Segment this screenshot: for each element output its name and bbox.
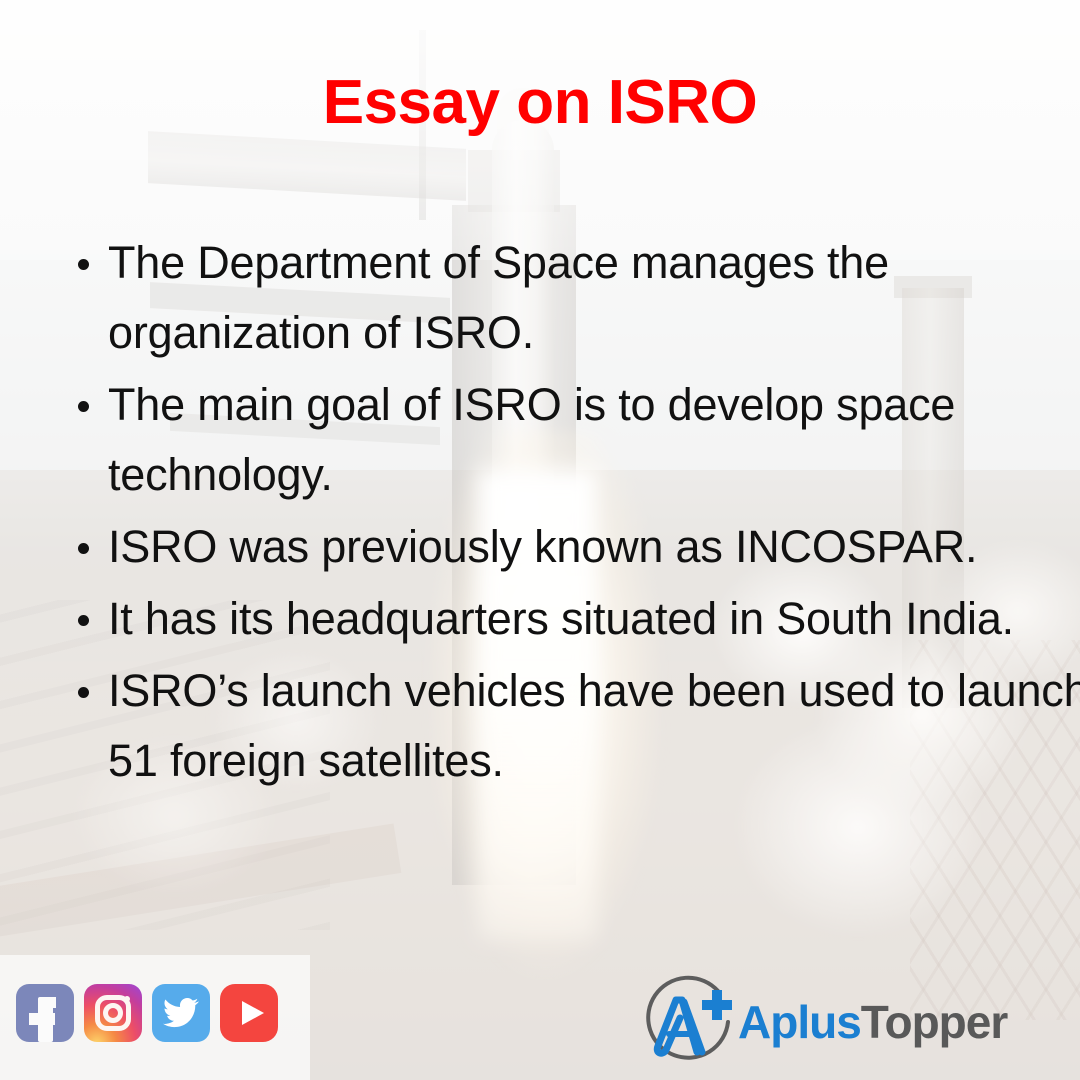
list-item: ISRO was previously known as INCOSPAR. — [108, 512, 1080, 582]
aplus-circle-icon — [640, 974, 740, 1070]
instagram-icon[interactable] — [84, 984, 142, 1042]
list-item: ISRO’s launch vehicles have been used to… — [108, 656, 1080, 796]
list-item-text: ISRO was previously known as INCOSPAR. — [108, 521, 977, 572]
facebook-icon[interactable] — [16, 984, 74, 1042]
brand-wordmark: AplusTopper — [738, 999, 1007, 1045]
facebook-glyph — [38, 997, 53, 1042]
list-item-text: The Department of Space manages the orga… — [108, 237, 889, 358]
instagram-dot-glyph — [124, 996, 130, 1002]
bullet-list: The Department of Space manages the orga… — [62, 228, 1080, 798]
brand-word-primary: Aplus — [738, 996, 861, 1048]
list-item-text: ISRO’s launch vehicles have been used to… — [108, 665, 1080, 786]
instagram-lens-glyph — [103, 1003, 123, 1023]
list-item-text: The main goal of ISRO is to develop spac… — [108, 379, 955, 500]
list-item: It has its headquarters situated in Sout… — [108, 584, 1080, 654]
page-title: Essay on ISRO — [0, 72, 1080, 134]
youtube-play-glyph — [242, 1001, 264, 1025]
poster-canvas: Essay on ISRO The Department of Space ma… — [0, 0, 1080, 1080]
list-item-text: It has its headquarters situated in Sout… — [108, 593, 1014, 644]
twitter-bird-glyph — [152, 984, 210, 1042]
twitter-icon[interactable] — [152, 984, 210, 1042]
social-links — [16, 984, 278, 1042]
brand-word-secondary: Topper — [861, 996, 1007, 1048]
brand-logo[interactable]: AplusTopper — [640, 972, 1065, 1072]
list-item: The Department of Space manages the orga… — [108, 228, 1080, 368]
youtube-icon[interactable] — [220, 984, 278, 1042]
list-item: The main goal of ISRO is to develop spac… — [108, 370, 1080, 510]
